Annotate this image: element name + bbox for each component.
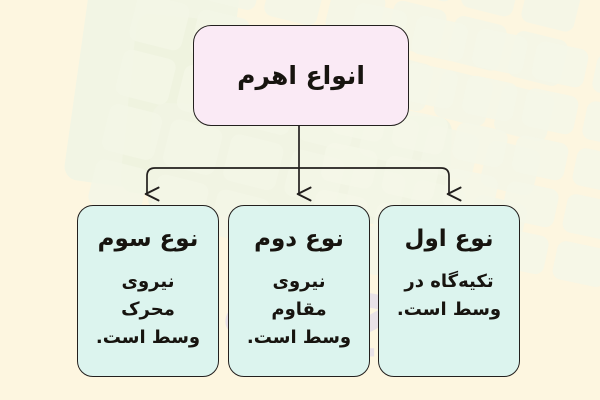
node-type-one-body: تکیه‌گاه در وسط است. <box>389 268 509 324</box>
node-type-two[interactable]: نوع دوم نیروی مقاوم وسط است. <box>228 205 370 377</box>
node-type-three-body: نیروی محرک وسط است. <box>88 268 208 352</box>
node-root[interactable]: انواع اهرم <box>193 25 409 126</box>
node-type-two-body: نیروی مقاوم وسط است. <box>239 268 359 352</box>
node-type-one[interactable]: نوع اول تکیه‌گاه در وسط است. <box>378 205 520 377</box>
node-type-three-title: نوع سوم <box>98 226 199 252</box>
node-type-two-title: نوع دوم <box>254 226 344 252</box>
node-type-one-title: نوع اول <box>405 226 494 252</box>
connector-branch-left <box>147 168 299 194</box>
node-type-three[interactable]: نوع سوم نیروی محرک وسط است. <box>77 205 219 377</box>
connector-branch-right <box>299 168 449 194</box>
node-root-label: انواع اهرم <box>237 61 365 90</box>
diagram-canvas: مجله انواع اهرم نوع سوم نیروی محرک وسط ا… <box>0 0 600 400</box>
